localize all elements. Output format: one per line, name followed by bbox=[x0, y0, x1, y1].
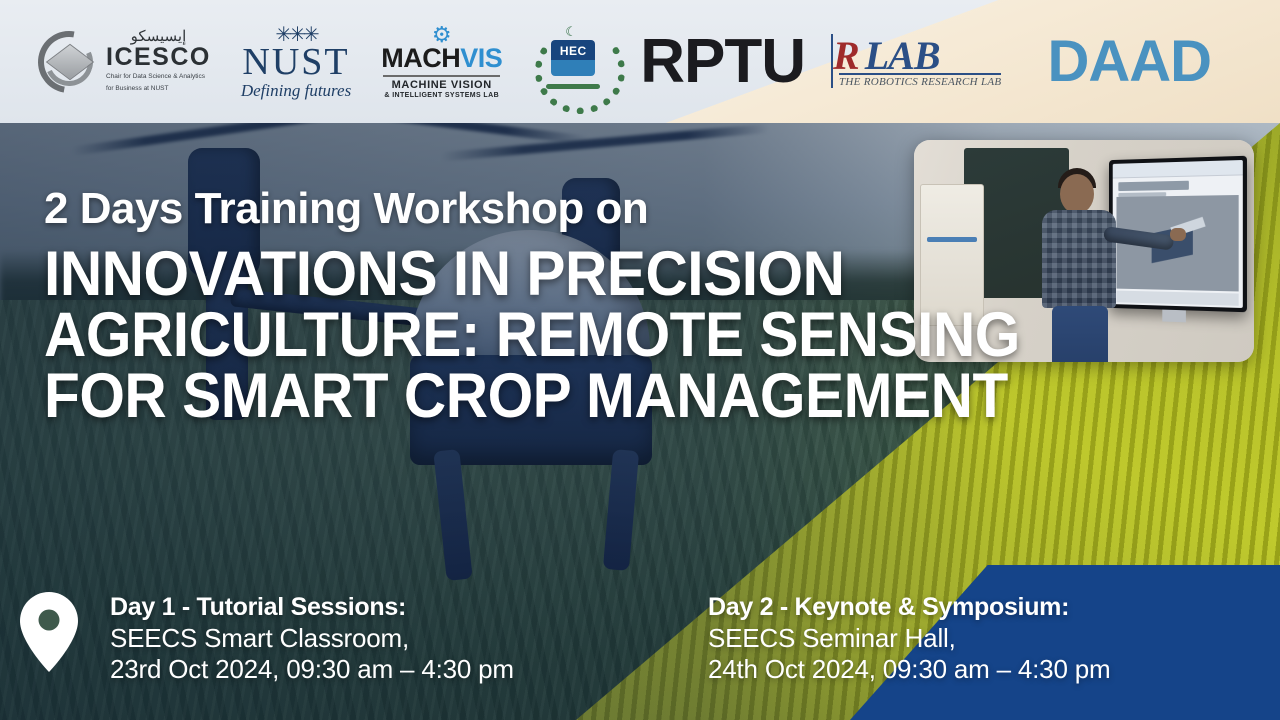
nust-title: NUST bbox=[241, 43, 351, 81]
sessions-bar: Day 1 - Tutorial Sessions: SEECS Smart C… bbox=[0, 570, 1280, 720]
headline-line-2: AGRICULTURE: REMOTE SENSING bbox=[44, 305, 974, 366]
day2-datetime: 24th Oct 2024, 09:30 am – 4:30 pm bbox=[708, 654, 1110, 686]
logo-rrlab: RLAB THE ROBOTICS RESEARCH LAB bbox=[839, 36, 1001, 88]
logo-icesco: إيسيسكو ICESCO Chair for Data Science & … bbox=[38, 29, 211, 94]
day1-venue: SEECS Smart Classroom, bbox=[110, 623, 514, 655]
day2-title: Day 2 - Keynote & Symposium: bbox=[708, 592, 1110, 623]
logo-rptu: RPTU bbox=[640, 31, 805, 93]
day1-title: Day 1 - Tutorial Sessions: bbox=[110, 592, 514, 623]
kicker-text: 2 Days Training Workshop on bbox=[44, 186, 1044, 232]
icesco-subtitle-line2: for Business at NUST bbox=[106, 84, 211, 94]
workshop-poster: إيسيسكو ICESCO Chair for Data Science & … bbox=[0, 0, 1280, 720]
day1-datetime: 23rd Oct 2024, 09:30 am – 4:30 pm bbox=[110, 654, 514, 686]
machvis-subtitle-line2: & INTELLIGENT SYSTEMS LAB bbox=[381, 92, 502, 99]
logo-hec: ☾ HEC bbox=[532, 20, 614, 104]
icesco-title: ICESCO bbox=[106, 45, 211, 70]
logo-nust: ✳✳✳ NUST Defining futures bbox=[241, 25, 351, 99]
logo-machvis: ⚙ MACHVIS MACHINE VISION & INTELLIGENT S… bbox=[381, 24, 502, 99]
logo-daad: DAAD bbox=[1047, 33, 1211, 91]
nust-tagline: Defining futures bbox=[241, 82, 351, 99]
sponsor-logo-bar: إيسيسكو ICESCO Chair for Data Science & … bbox=[0, 0, 1280, 123]
headline-line-1: INNOVATIONS IN PRECISION bbox=[44, 244, 974, 305]
headline: INNOVATIONS IN PRECISION AGRICULTURE: RE… bbox=[44, 244, 974, 427]
machvis-subtitle-line1: MACHINE VISION bbox=[381, 80, 502, 91]
hec-crest-icon: HEC bbox=[551, 40, 595, 76]
icesco-arabic-title: إيسيسكو bbox=[106, 29, 211, 44]
rrlab-subtitle: THE ROBOTICS RESEARCH LAB bbox=[839, 77, 1001, 88]
hec-base bbox=[546, 84, 600, 89]
hero-text-block: 2 Days Training Workshop on INNOVATIONS … bbox=[44, 186, 1044, 428]
icesco-subtitle-line1: Chair for Data Science & Analytics bbox=[106, 72, 211, 82]
icesco-mark-icon bbox=[38, 31, 100, 93]
machvis-title-dark: MACH bbox=[381, 43, 460, 73]
day1-info: Day 1 - Tutorial Sessions: SEECS Smart C… bbox=[110, 592, 514, 686]
headline-line-3: FOR SMART CROP MANAGEMENT bbox=[44, 366, 974, 427]
rrlab-title-r: R bbox=[833, 33, 859, 78]
day2-info: Day 2 - Keynote & Symposium: SEECS Semin… bbox=[708, 592, 1110, 686]
rrlab-title: RLAB bbox=[839, 36, 1001, 76]
machvis-title: MACHVIS bbox=[381, 45, 502, 72]
location-pin-icon bbox=[20, 592, 78, 672]
rrlab-title-rest: LAB bbox=[865, 33, 940, 78]
day2-venue: SEECS Seminar Hall, bbox=[708, 623, 1110, 655]
machvis-divider bbox=[383, 75, 500, 77]
machvis-title-accent: VIS bbox=[460, 43, 502, 73]
hec-title: HEC bbox=[560, 44, 587, 58]
